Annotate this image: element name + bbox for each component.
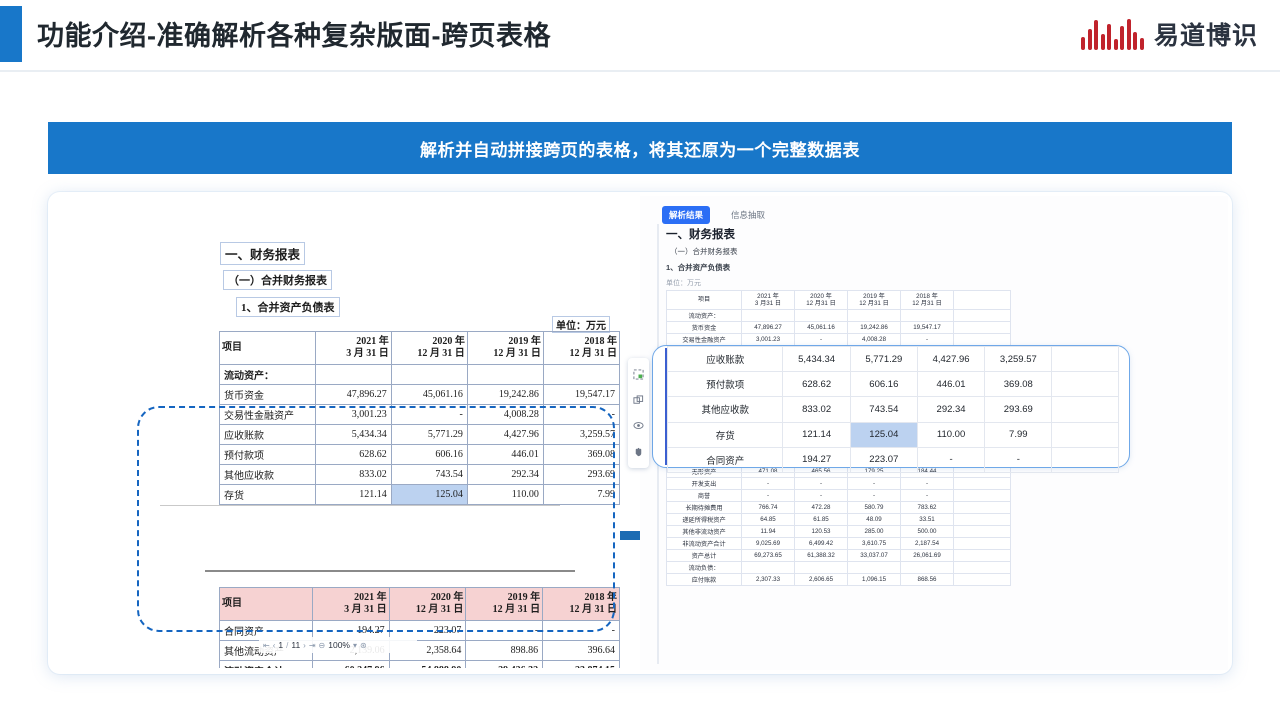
table-row: 交易性金融资产3,001.23-4,008.28- (667, 334, 1011, 346)
section-banner: 解析并自动拼接跨页的表格，将其还原为一个完整数据表 (48, 122, 1232, 174)
col-2021: 2021 年3 月 31 日 (312, 588, 389, 621)
table-cell: 743.54 (850, 397, 917, 422)
table-cell: 2,606.65 (795, 574, 848, 586)
table-header-row: 项目 2021 年3 月 31 日 2020 年12 月 31 日 2019 年… (220, 588, 620, 621)
eye-icon[interactable] (632, 419, 645, 432)
row-label: 其他非流动资产 (667, 526, 742, 538)
col-item: 项目 (667, 291, 742, 310)
row-label: 其他应收款 (668, 397, 783, 422)
table-cell: - (742, 490, 795, 502)
col-2021: 2021 年3 月31 日 (742, 291, 795, 310)
row-label: 合同资产 (668, 447, 783, 472)
logo-waveform-icon (1081, 18, 1144, 50)
table-cell: - (985, 447, 1052, 472)
table-row: 交易性金融资产 3,001.23 - 4,008.28 - (220, 405, 620, 425)
row-label: 流动资产合计 (220, 661, 313, 669)
viewer-tool-palette[interactable] (628, 358, 649, 468)
table-cell-spacer (954, 322, 1011, 334)
table-row: 流动资产： (220, 365, 620, 385)
table-cell: 783.62 (901, 502, 954, 514)
table-row: 商誉---- (667, 490, 1011, 502)
table-cell: 47,896.27 (742, 322, 795, 334)
table-cell: 292.34 (917, 397, 984, 422)
row-label: 开发支出 (667, 478, 742, 490)
page-header: 功能介绍-准确解析各种复杂版面-跨页表格 易道博识 (0, 0, 1280, 70)
table-cell: - (901, 334, 954, 346)
table-cell: 3,610.75 (848, 538, 901, 550)
table-cell: 5,434.34 (783, 347, 850, 372)
zoom-level-label[interactable]: 100% (328, 640, 350, 650)
table-row: 货币资金47,896.2745,061.1619,242.8619,547.17 (667, 322, 1011, 334)
table-cell: 64.85 (742, 514, 795, 526)
col-2020: 2020 年12 月31 日 (795, 291, 848, 310)
row-label: 预付款项 (220, 445, 316, 465)
table-cell (795, 310, 848, 322)
table-cell (901, 310, 954, 322)
table-cell: 48.09 (848, 514, 901, 526)
table-cell-spacer (954, 562, 1011, 574)
result-tabs: 解析结果 信息抽取 (662, 206, 772, 224)
app-heading-2: （一）合并财务报表 (670, 246, 738, 257)
table-cell: - (795, 478, 848, 490)
tab-parse-result[interactable]: 解析结果 (662, 206, 710, 224)
total-pages: 11 (291, 640, 300, 650)
table-cell: 868.56 (901, 574, 954, 586)
table-cell-spacer (954, 526, 1011, 538)
table-row: 预付款项628.62606.16446.01369.08 (668, 372, 1119, 397)
table-row: 其他应收款833.02743.54292.34293.69 (668, 397, 1119, 422)
row-label: 资产总计 (667, 550, 742, 562)
first-page-icon[interactable]: ⇤ (263, 641, 270, 650)
table-cell-spacer (954, 538, 1011, 550)
table-cell-spacer (954, 514, 1011, 526)
table-cell (795, 562, 848, 574)
header-accent-bar (0, 6, 22, 62)
table-cell: 2,187.54 (901, 538, 954, 550)
stitched-table: 应收账款5,434.345,771.294,427.963,259.57预付款项… (667, 346, 1119, 473)
row-label: 应收账款 (668, 347, 783, 372)
table-header-row: 项目 2021 年3 月 31 日 2020 年12 月 31 日 2019 年… (220, 332, 620, 365)
table-row: 长期待摊费用766.74472.28580.79783.62 (667, 502, 1011, 514)
row-label: 长期待摊费用 (667, 502, 742, 514)
table-cell (742, 310, 795, 322)
col-2019: 2019 年12 月31 日 (848, 291, 901, 310)
table-cell-spacer (954, 574, 1011, 586)
app-heading-3: 1、合并资产负债表 (666, 262, 730, 273)
callout-inner: 应收账款5,434.345,771.294,427.963,259.57预付款项… (667, 346, 1119, 467)
row-label: 存货 (220, 485, 316, 505)
app-heading-1: 一、财务报表 (666, 226, 735, 242)
table-cell: 121.14 (783, 422, 850, 447)
row-label: 交易性金融资产 (667, 334, 742, 346)
table-cell: 3,001.23 (742, 334, 795, 346)
col-item: 项目 (220, 588, 313, 621)
doc-page-separator (160, 505, 560, 506)
table-cell: - (795, 334, 848, 346)
table-cell: 33.51 (901, 514, 954, 526)
table-cell: - (848, 490, 901, 502)
table-cell: 19,242.86 (848, 322, 901, 334)
table-cell: 9,025.69 (742, 538, 795, 550)
last-page-icon[interactable]: ⇥ (309, 641, 316, 650)
col-2019: 2019 年12 月 31 日 (467, 332, 543, 365)
table-row: 非流动资产合计9,025.696,499.423,610.752,187.54 (667, 538, 1011, 550)
table-cell: 223.07 (850, 447, 917, 472)
table-cell: - (848, 478, 901, 490)
highlighted-cell: 125.04 (391, 485, 467, 505)
table-cell-spacer (954, 550, 1011, 562)
col-2018: 2018 年12 月31 日 (901, 291, 954, 310)
header-divider (0, 70, 1280, 72)
col-2020: 2020 年12 月 31 日 (389, 588, 466, 621)
col-item: 项目 (220, 332, 316, 365)
table-row: 流动资产合计 60,247.96 54,888.90 29,426.32 23,… (220, 661, 620, 669)
table-cell-spacer (954, 310, 1011, 322)
row-label: 货币资金 (667, 322, 742, 334)
table-cell (742, 562, 795, 574)
brand-logo: 易道博识 (1081, 16, 1258, 52)
row-label: 其他应收款 (220, 465, 316, 485)
highlighted-cell: 125.04 (850, 422, 917, 447)
table-cell: 4,008.28 (848, 334, 901, 346)
table-cell: 766.74 (742, 502, 795, 514)
table-cell-spacer (954, 334, 1011, 346)
row-label: 递延所得税资产 (667, 514, 742, 526)
page-separator: / (286, 641, 288, 650)
col-2018: 2018 年12 月 31 日 (543, 588, 620, 621)
table-row: 存货 121.14 125.04 110.00 7.99 (220, 485, 620, 505)
table-cell-spacer (954, 490, 1011, 502)
table-cell-spacer (1052, 447, 1119, 472)
row-label: 流动资产： (667, 310, 742, 322)
table-row: 其他应收款 833.02 743.54 292.34 293.69 (220, 465, 620, 485)
table-row: 存货121.14125.04110.007.99 (668, 422, 1119, 447)
stitched-table-callout: 应收账款5,434.345,771.294,427.963,259.57预付款项… (652, 345, 1130, 468)
table-cell-spacer (1052, 347, 1119, 372)
table-row: 预付款项 628.62 606.16 446.01 369.08 (220, 445, 620, 465)
doc-heading-1: 一、财务报表 (220, 242, 305, 265)
table-cell: - (795, 490, 848, 502)
table-cell: 285.00 (848, 526, 901, 538)
table-cell-spacer (1052, 397, 1119, 422)
chevron-down-icon[interactable]: ▾ (353, 641, 357, 650)
row-label: 交易性金融资产 (220, 405, 316, 425)
table-cell: 446.01 (917, 372, 984, 397)
doc-heading-3: 1、合并资产负债表 (236, 297, 340, 317)
table-cell: 2,307.33 (742, 574, 795, 586)
doc-page-separator-2 (205, 570, 575, 572)
table-row: 应收账款5,434.345,771.294,427.963,259.57 (668, 347, 1119, 372)
table-row: 货币资金 47,896.27 45,061.16 19,242.86 19,54… (220, 385, 620, 405)
row-label: 应收账款 (220, 425, 316, 445)
table-cell: - (917, 447, 984, 472)
table-cell: 45,061.16 (795, 322, 848, 334)
hand-icon[interactable] (632, 445, 645, 458)
table-cell: 5,771.29 (850, 347, 917, 372)
section-banner-text: 解析并自动拼接跨页的表格，将其还原为一个完整数据表 (420, 136, 860, 161)
row-label: 商誉 (667, 490, 742, 502)
table-cell: 11.94 (742, 526, 795, 538)
page-navigation-toolbar[interactable]: ⇤ ‹ 1 / 11 › ⇥ ⊖ 100% ▾ ⊛ (259, 637, 417, 653)
table-cell: - (742, 478, 795, 490)
row-label: 非流动资产合计 (667, 538, 742, 550)
table-cell: - (901, 478, 954, 490)
tab-info-extraction[interactable]: 信息抽取 (724, 206, 772, 224)
table-cell: 472.28 (795, 502, 848, 514)
page-title: 功能介绍-准确解析各种复杂版面-跨页表格 (37, 14, 551, 53)
table-cell: 19,547.17 (901, 322, 954, 334)
table-cell: 61,388.32 (795, 550, 848, 562)
table-cell: 120.53 (795, 526, 848, 538)
table-cell: 369.08 (985, 372, 1052, 397)
table-cell: 26,061.69 (901, 550, 954, 562)
table-cell: 606.16 (850, 372, 917, 397)
col-2021: 2021 年3 月 31 日 (315, 332, 391, 365)
table-cell: 194.27 (783, 447, 850, 472)
row-label: 流动负债： (667, 562, 742, 574)
table-row: 其他非流动资产11.94120.53285.00500.00 (667, 526, 1011, 538)
table-cell: 628.62 (783, 372, 850, 397)
table-cell-spacer (954, 502, 1011, 514)
table-header-row: 项目 2021 年3 月31 日 2020 年12 月31 日 2019 年12… (667, 291, 1011, 310)
table-cell: 293.69 (985, 397, 1052, 422)
stitched-table-body: 应收账款5,434.345,771.294,427.963,259.57预付款项… (668, 347, 1119, 473)
table-cell (848, 310, 901, 322)
table-row: 合同资产194.27223.07-- (668, 447, 1119, 472)
table-cell: 110.00 (917, 422, 984, 447)
table-cell: 3,259.57 (985, 347, 1052, 372)
table-cell-spacer (1052, 372, 1119, 397)
table-cell: 833.02 (783, 397, 850, 422)
table-cell: 6,499.42 (795, 538, 848, 550)
crop-icon[interactable] (632, 368, 645, 381)
table-cell: - (901, 490, 954, 502)
col-2018: 2018 年12 月 31 日 (543, 332, 619, 365)
row-label: 货币资金 (220, 385, 316, 405)
prev-page-icon[interactable]: ‹ (273, 641, 276, 650)
row-label: 流动资产： (220, 365, 316, 385)
table-row: 流动资产： (667, 310, 1011, 322)
table-cell-spacer (1052, 422, 1119, 447)
table-row: 递延所得税资产64.8561.8548.0933.51 (667, 514, 1011, 526)
copy-icon[interactable] (632, 394, 645, 407)
table-cell: 500.00 (901, 526, 954, 538)
col-2019: 2019 年12 月 31 日 (466, 588, 543, 621)
table-row: 流动负债： (667, 562, 1011, 574)
doc-table-bottom: 项目 2021 年3 月 31 日 2020 年12 月 31 日 2019 年… (219, 587, 620, 668)
table-row: 应收账款 5,434.34 5,771.29 4,427.96 3,259.57 (220, 425, 620, 445)
table-cell: 1,096.15 (848, 574, 901, 586)
next-page-icon[interactable]: › (303, 641, 306, 650)
table-cell (901, 562, 954, 574)
table-cell: 69,273.65 (742, 550, 795, 562)
table-row: 应付账款2,307.332,606.651,096.15868.56 (667, 574, 1011, 586)
row-label: 应付账款 (667, 574, 742, 586)
row-label: 存货 (668, 422, 783, 447)
logo-text: 易道博识 (1154, 16, 1258, 52)
scanned-document-panel: 一、财务报表 （一）合并财务报表 1、合并资产负债表 单位：万元 项目 2021… (60, 200, 620, 668)
settings-icon[interactable]: ⊛ (360, 641, 367, 650)
table-cell (848, 562, 901, 574)
col-2020: 2020 年12 月 31 日 (391, 332, 467, 365)
table-cell: 7.99 (985, 422, 1052, 447)
zoom-out-icon[interactable]: ⊖ (319, 641, 326, 650)
app-unit-note: 单位：万元 (666, 278, 701, 288)
current-page-input[interactable]: 1 (278, 640, 283, 650)
table-cell-spacer (954, 478, 1011, 490)
row-label: 预付款项 (668, 372, 783, 397)
doc-table-top: 项目 2021 年3 月 31 日 2020 年12 月 31 日 2019 年… (219, 331, 620, 505)
table-cell: 580.79 (848, 502, 901, 514)
table-cell: 61.85 (795, 514, 848, 526)
table-cell: 4,427.96 (917, 347, 984, 372)
slide-root: 功能介绍-准确解析各种复杂版面-跨页表格 易道博识 解析并自动拼接跨页的表格，将… (0, 0, 1280, 720)
table-row: 开发支出---- (667, 478, 1011, 490)
doc-heading-2: （一）合并财务报表 (223, 270, 332, 290)
table-row: 资产总计69,273.6561,388.3233,037.0726,061.69 (667, 550, 1011, 562)
table-cell: 33,037.07 (848, 550, 901, 562)
